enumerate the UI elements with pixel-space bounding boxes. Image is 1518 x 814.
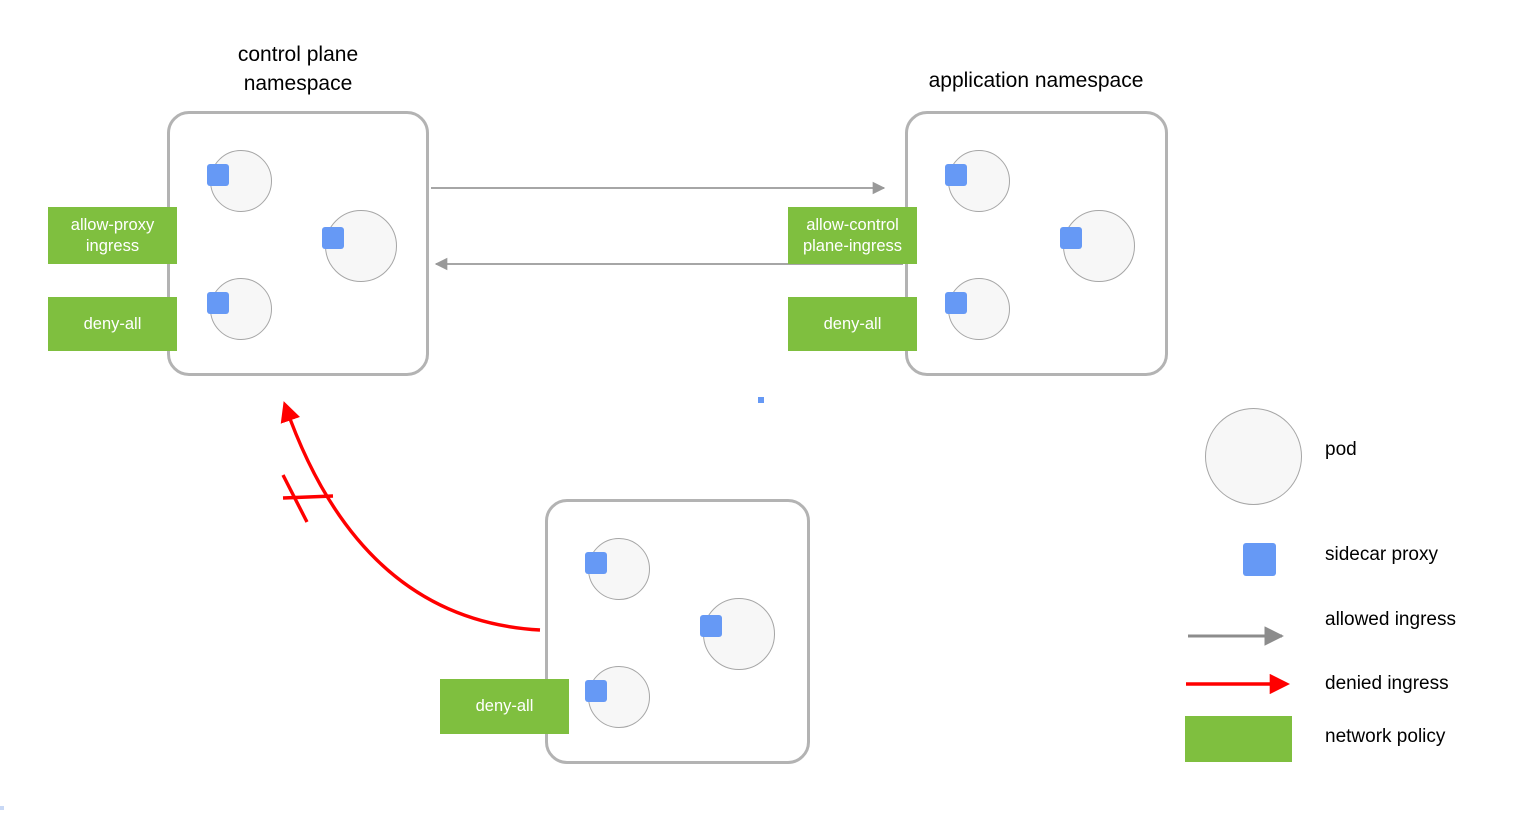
sidecar-proxy-icon[interactable]	[945, 164, 967, 186]
network-policy-deny-all-application[interactable]: deny-all	[788, 297, 917, 351]
legend-label-denied-ingress: denied ingress	[1325, 672, 1449, 696]
sidecar-proxy-icon[interactable]	[585, 680, 607, 702]
application-namespace-box[interactable]	[905, 111, 1168, 376]
stray-blue-dot-artifact	[758, 397, 764, 403]
application-namespace-title: application namespace	[905, 66, 1167, 95]
legend: pod sidecar proxy allowed ingress denied…	[1185, 400, 1505, 765]
sidecar-proxy-icon[interactable]	[700, 615, 722, 637]
network-policy-allow-proxy-ingress[interactable]: allow-proxy ingress	[48, 207, 177, 264]
control-plane-namespace-box[interactable]	[167, 111, 429, 376]
network-policy-deny-all-other[interactable]: deny-all	[440, 679, 569, 734]
sidecar-proxy-icon[interactable]	[207, 292, 229, 314]
other-namespace-box[interactable]	[545, 499, 810, 764]
sidecar-proxy-icon[interactable]	[1060, 227, 1082, 249]
control-plane-namespace-title: control plane namespace	[167, 40, 429, 98]
diagram-canvas: control plane namespace application name…	[0, 0, 1518, 814]
sidecar-proxy-icon[interactable]	[945, 292, 967, 314]
denied-cross-icon	[283, 475, 333, 522]
stray-corner-artifact	[0, 806, 4, 810]
pod-circle-icon	[1205, 408, 1302, 505]
network-policy-deny-all-control-plane[interactable]: deny-all	[48, 297, 177, 351]
legend-label-network-policy: network policy	[1325, 725, 1445, 749]
sidecar-proxy-icon[interactable]	[322, 227, 344, 249]
legend-label-allowed-ingress: allowed ingress	[1325, 608, 1456, 632]
legend-label-pod: pod	[1325, 438, 1357, 462]
green-swatch-icon	[1185, 716, 1292, 762]
sidecar-proxy-icon[interactable]	[585, 552, 607, 574]
sidecar-proxy-icon[interactable]	[207, 164, 229, 186]
legend-label-sidecar-proxy: sidecar proxy	[1325, 543, 1438, 567]
network-policy-allow-control-plane-ingress[interactable]: allow-control plane-ingress	[788, 207, 917, 264]
denied-ingress-curve	[285, 405, 540, 630]
sidecar-proxy-icon	[1243, 543, 1276, 576]
